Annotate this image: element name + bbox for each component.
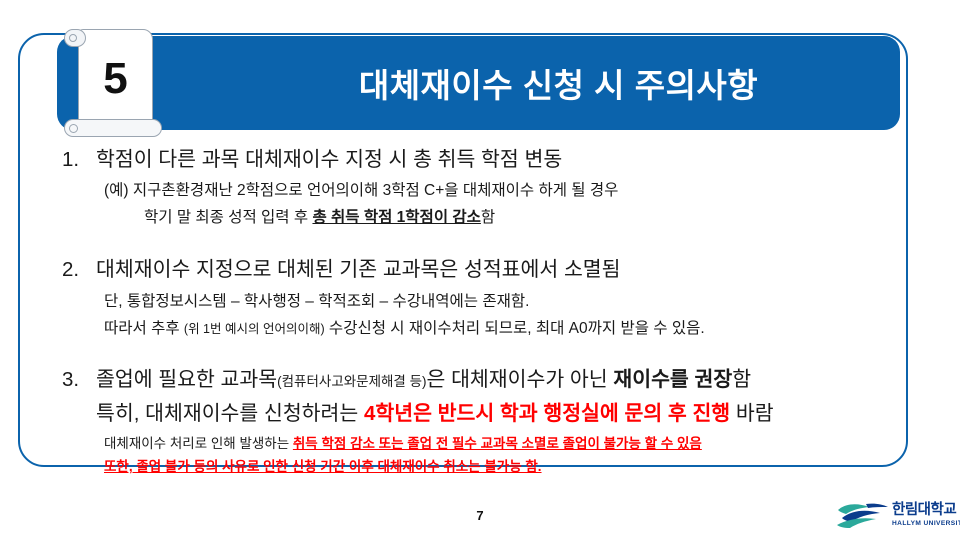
header-banner: 대체재이수 신청 시 주의사항	[57, 36, 900, 130]
item-1-line-2-prefix: 학기 말 최종 성적 입력 후	[144, 209, 312, 226]
body-content: 1. 학점이 다른 과목 대체재이수 지정 시 총 취득 학점 변동 (예) 지…	[62, 142, 902, 476]
item-3-warning-2: 또한, 졸업 불가 등의 사유로 인한 신청 기간 이후 대체재이수 취소는 불…	[104, 455, 902, 476]
page-title: 대체재이수 신청 시 주의사항	[217, 36, 900, 130]
item-2-line-2-parenthetical: (위 1번 예시의 언어의이해)	[184, 322, 325, 336]
item-3-heading-suffix: 함	[732, 368, 751, 391]
item-3-heading-parenthetical: (컴퓨터사고와문제해결 등)	[277, 374, 426, 389]
university-logo: 한림대학교 HALLYM UNIVERSITY	[836, 500, 956, 536]
list-item: 1. 학점이 다른 과목 대체재이수 지정 시 총 취득 학점 변동 (예) 지…	[62, 142, 902, 227]
item-3-number: 3.	[62, 368, 96, 392]
item-2-line-2-suffix: 수강신청 시 재이수처리 되므로, 최대 A0까지 받을 수 있음.	[325, 320, 705, 337]
slide-canvas: 대체재이수 신청 시 주의사항 5 1. 학점이 다른 과목 대체재이수 지정 …	[0, 0, 960, 540]
item-3-line-1-prefix: 특히, 대체재이수를 신청하려는	[96, 402, 364, 425]
item-1-line-1: (예) 지구촌환경재난 2학점으로 언어의이해 3학점 C+을 대체재이수 하게…	[104, 178, 902, 200]
item-3-heading-prefix: 졸업에 필요한 교과목	[96, 368, 277, 391]
wave-icon	[836, 501, 890, 531]
list-item: 3. 졸업에 필요한 교과목(컴퓨터사고와문제해결 등)은 대체재이수가 아닌 …	[62, 362, 902, 476]
item-1-line-2-suffix: 함	[481, 209, 495, 226]
item-3-line-1-suffix: 바람	[730, 402, 773, 425]
item-2-line-2: 따라서 추후 (위 1번 예시의 언어의이해) 수강신청 시 재이수처리 되므로…	[104, 316, 902, 338]
logo-english-name: HALLYM UNIVERSITY	[892, 519, 958, 528]
page-number: 7	[0, 508, 960, 523]
item-3-warning-1-alert: 취득 학점 감소 또는 졸업 전 필수 교과목 소멸로 졸업이 불가능 할 수 …	[293, 436, 702, 451]
item-3-warning-1: 대체재이수 처리로 인해 발생하는 취득 학점 감소 또는 졸업 전 필수 교과…	[104, 432, 902, 452]
item-1-heading-row: 1. 학점이 다른 과목 대체재이수 지정 시 총 취득 학점 변동	[62, 142, 902, 172]
list-item: 2. 대체재이수 지정으로 대체된 기존 교과목은 성적표에서 소멸됨 단, 통…	[62, 252, 902, 338]
scroll-number-badge: 5	[64, 26, 166, 139]
item-2-number: 2.	[62, 258, 96, 282]
item-1-line-2: 학기 말 최종 성적 입력 후 총 취득 학점 1학점이 감소함	[144, 205, 902, 227]
item-1-line-2-emphasis: 총 취득 학점 1학점이 감소	[312, 209, 480, 226]
item-3-line-1-alert: 4학년은 반드시 학과 행정실에 문의 후 진행	[364, 402, 730, 425]
item-3-heading-mid: 은 대체재이수가 아닌	[427, 368, 614, 391]
item-3-warning-2-alert: 또한, 졸업 불가 등의 사유로 인한 신청 기간 이후 대체재이수 취소는 불…	[104, 459, 542, 474]
item-3-heading-row: 3. 졸업에 필요한 교과목(컴퓨터사고와문제해결 등)은 대체재이수가 아닌 …	[62, 362, 902, 392]
item-1-heading: 학점이 다른 과목 대체재이수 지정 시 총 취득 학점 변동	[96, 142, 562, 172]
logo-text-block: 한림대학교 HALLYM UNIVERSITY	[892, 502, 958, 528]
item-3-line-1: 특히, 대체재이수를 신청하려는 4학년은 반드시 학과 행정실에 문의 후 진…	[96, 396, 774, 426]
section-number: 5	[78, 29, 153, 128]
item-2-line-2-prefix: 따라서 추후	[104, 320, 184, 337]
logo-korean-name: 한림대학교	[892, 502, 958, 519]
item-3-line-1-row: 특히, 대체재이수를 신청하려는 4학년은 반드시 학과 행정실에 문의 후 진…	[62, 396, 902, 426]
item-3-heading: 졸업에 필요한 교과목(컴퓨터사고와문제해결 등)은 대체재이수가 아닌 재이수…	[96, 362, 751, 392]
item-2-line-1: 단, 통합정보시스템 – 학사행정 – 학적조회 – 수강내역에는 존재함.	[104, 289, 902, 311]
item-2-heading: 대체재이수 지정으로 대체된 기존 교과목은 성적표에서 소멸됨	[96, 252, 621, 282]
item-2-heading-row: 2. 대체재이수 지정으로 대체된 기존 교과목은 성적표에서 소멸됨	[62, 252, 902, 282]
item-3-heading-emphasis: 재이수를 권장	[613, 368, 732, 391]
item-1-number: 1.	[62, 148, 96, 172]
item-3-warning-1-prefix: 대체재이수 처리로 인해 발생하는	[104, 436, 293, 451]
